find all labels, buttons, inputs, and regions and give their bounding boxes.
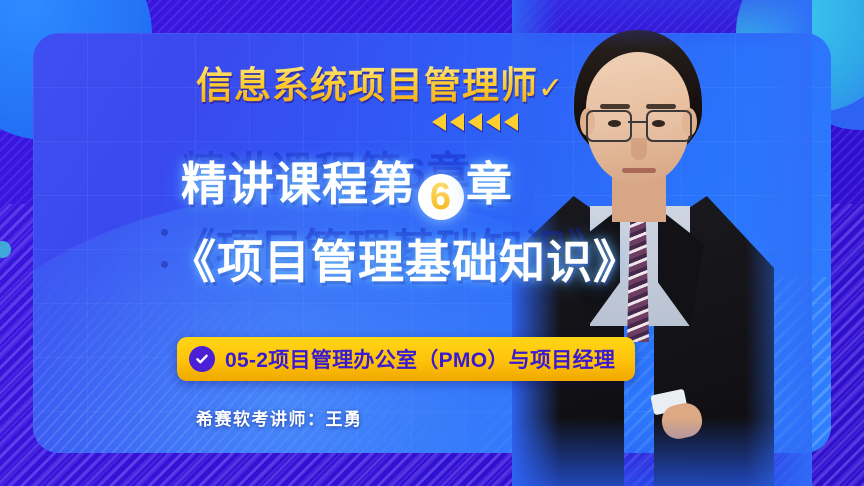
left-arrow-icon (504, 113, 518, 131)
arrow-decoration (432, 113, 518, 131)
check-icon (189, 346, 215, 372)
glasses-bridge (628, 121, 646, 123)
nose (631, 138, 647, 160)
left-arrow-icon (486, 113, 500, 131)
eyebrow-right (646, 104, 676, 109)
course-title-line2: 《项目管理基础知识》 (170, 226, 640, 292)
presenter-name: 希赛软考讲师：王勇 (196, 405, 363, 430)
lesson-badge-text: 05-2项目管理办公室（PMO）与项目经理 (225, 344, 615, 374)
decorative-dot-b (161, 261, 168, 268)
certification-title-text: 信息系统项目管理师 (196, 65, 538, 106)
glasses-lens-left (586, 110, 632, 142)
glasses-icon (584, 110, 692, 140)
chapter-number: 6 (430, 178, 452, 216)
title-suffix: 章 (466, 158, 513, 210)
lesson-badge: 05-2项目管理办公室（PMO）与项目经理 (177, 337, 635, 381)
check-mark-icon: ✓ (538, 72, 564, 105)
certification-title: 信息系统项目管理师✓ (196, 55, 564, 109)
glasses-lens-right (646, 110, 692, 142)
chapter-number-badge: 6 (418, 174, 464, 220)
left-arrow-icon (450, 113, 464, 131)
left-arrow-icon (432, 113, 446, 131)
decorative-dot-a (161, 229, 168, 236)
eyebrow-left (600, 104, 630, 109)
mouth (622, 168, 656, 173)
course-title-line1: 精讲课程第6章 (181, 148, 513, 220)
course-cover-slide: 精讲课程第6章 《项目管理基础知识》 信息系统项目管理师✓ 精讲课程第6章 《项… (0, 0, 864, 486)
left-arrow-icon (468, 113, 482, 131)
title-prefix: 精讲课程第 (181, 158, 416, 210)
